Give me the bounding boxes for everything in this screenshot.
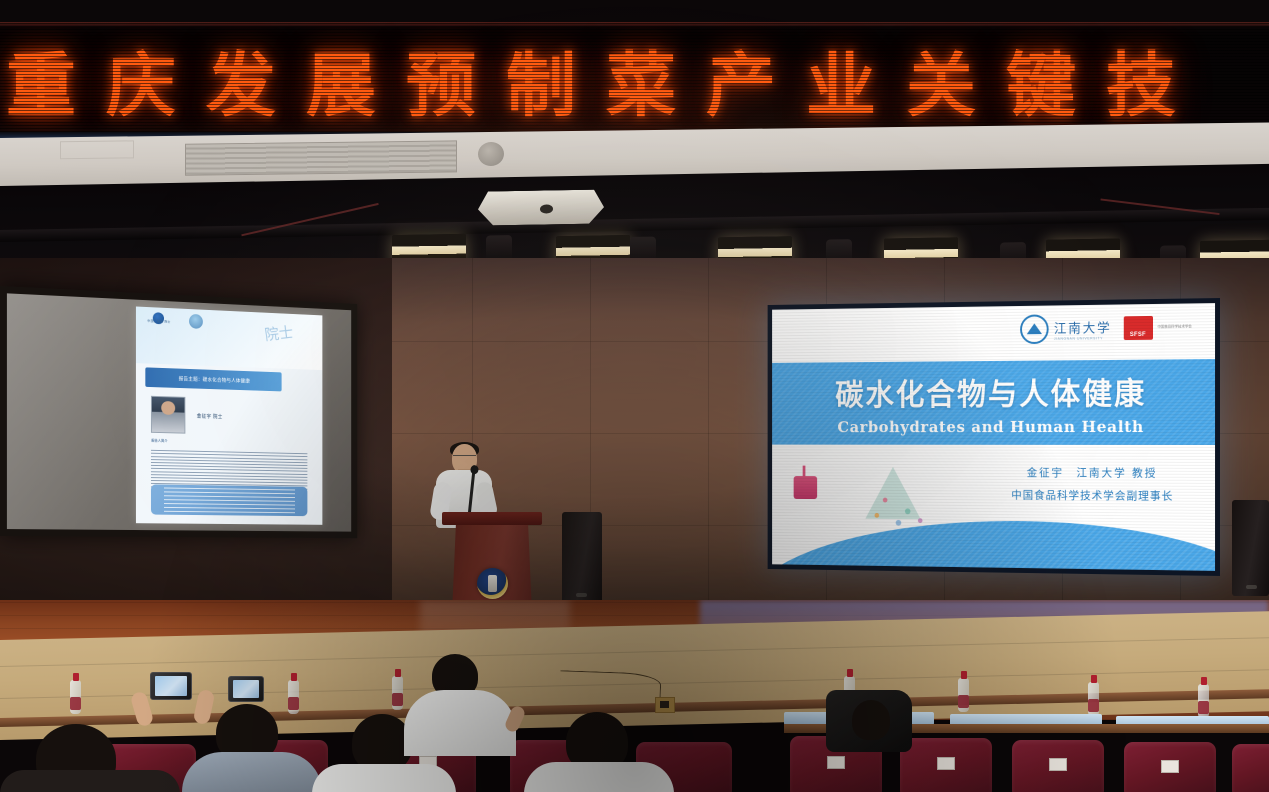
air-vent-grille [185,140,457,175]
audience-shoulders [524,762,674,792]
water-bottle [392,676,403,710]
slide-wave-decoration [772,519,1215,571]
seat-number-tag [1161,760,1179,773]
slide-logo-row: 江南大学 JIANGNAN UNIVERSITY SFSF 中国食品科学技术学会 [1021,312,1192,344]
document-section-label: 报告人简介 [151,439,167,444]
slide-title-band: 碳水化合物与人体健康 Carbohydrates and Human Healt… [772,359,1215,445]
document-footer-box [151,484,307,516]
decorative-jar-icon [793,476,816,499]
smartphone-icon [228,676,264,702]
document-title-text: 报告主题：碳水化合物与人体健康 [179,375,250,384]
seat-number-tag [937,757,955,770]
pyramid-dot [874,513,879,518]
pa-speaker-cabinet [1232,500,1269,596]
presenter-name-line: 金征宇 江南大学 教授 [1011,465,1173,481]
slide-title-chinese: 碳水化合物与人体健康 [835,369,1146,414]
presenter-title-line: 中国食品科学技术学会副理事长 [1011,487,1173,504]
water-bottle [958,678,969,712]
projected-document: 中国工程院 院士 报告主题：碳水化合物与人体健康 金征宇 院士 报告人简介 院士 [136,307,322,525]
pyramid-dot [896,520,902,526]
food-pyramid-icon [866,466,921,518]
audience-shoulders [404,690,516,756]
slide-footer: 金征宇 江南大学 教授 中国食品科学技术学会副理事长 [772,445,1215,571]
audience-shoulders [182,752,322,792]
led-banner: 重庆发展预制菜产业关键技 [0,22,1269,138]
pa-speaker-cabinet [562,512,602,604]
jiangnan-university-logo: 江南大学 JIANGNAN UNIVERSITY [1021,314,1112,345]
ledge-seam [0,637,1269,667]
water-bottle [288,680,299,714]
audience-seat [1232,744,1269,792]
water-bottle [1088,682,1099,716]
audience-seat [1124,742,1216,792]
secondary-logo-icon [189,314,203,329]
document-title-bar: 报告主题：碳水化合物与人体健康 [145,368,282,392]
cifst-mark-text: SFSF [1130,332,1146,340]
slide-header: 江南大学 JIANGNAN UNIVERSITY SFSF 中国食品科学技术学会 [772,303,1215,363]
pyramid-dot [905,508,911,514]
smartphone-icon [150,672,192,700]
audience-seat [900,738,992,792]
jiangnan-name-block: 江南大学 JIANGNAN UNIVERSITY [1054,317,1112,340]
left-projection-screen: 中国工程院 院士 报告主题：碳水化合物与人体健康 金征宇 院士 报告人简介 院士 [0,286,357,538]
audience-shoulders [312,764,456,792]
audience-shoulders [0,770,180,792]
jiangnan-mark-icon [1021,314,1050,344]
seat-number-tag [1049,758,1067,771]
seat-number-tag [827,756,845,769]
document-speaker-name: 金征宇 院士 [197,412,223,419]
pyramid-dot [918,518,923,523]
auditorium-photo: 重庆发展预制菜产业关键技 [0,0,1269,792]
cifst-subtext: 中国食品科学技术学会 [1157,325,1191,331]
calligraphy-watermark: 院士 [264,324,318,384]
cifst-logo: SFSF 中国食品科学技术学会 [1123,315,1192,340]
phone-screen [233,680,259,698]
document-footer-lines [164,488,295,514]
loose-cable [560,670,662,703]
speaker-portrait-photo [151,396,185,433]
slide-title-english: Carbohydrates and Human Health [837,417,1143,436]
document-org-line: 中国工程院 院士 [147,318,170,323]
main-led-screen: 江南大学 JIANGNAN UNIVERSITY SFSF 中国食品科学技术学会… [768,298,1220,576]
ceiling-speaker-icon [478,142,504,166]
water-bottle [70,680,81,714]
presentation-slide: 江南大学 JIANGNAN UNIVERSITY SFSF 中国食品科学技术学会… [772,303,1215,571]
podium-top-surface [442,512,542,525]
audience-head [852,700,890,740]
soffit-seam [60,140,134,159]
slide-presenter-block: 金征宇 江南大学 教授 中国食品科学技术学会副理事长 [1011,465,1173,504]
led-banner-text: 重庆发展预制菜产业关键技 [6,30,1206,131]
water-bottle [1198,684,1209,718]
jiangnan-name-text: 江南大学 [1054,317,1112,336]
phone-screen [155,676,187,696]
glasses-icon [453,455,476,460]
cifst-mark-icon: SFSF [1123,316,1152,340]
audience-seat [1012,740,1104,792]
university-crest-icon [477,568,508,599]
power-outlet-icon [655,697,675,713]
jiangnan-name-subtext: JIANGNAN UNIVERSITY [1054,336,1112,341]
